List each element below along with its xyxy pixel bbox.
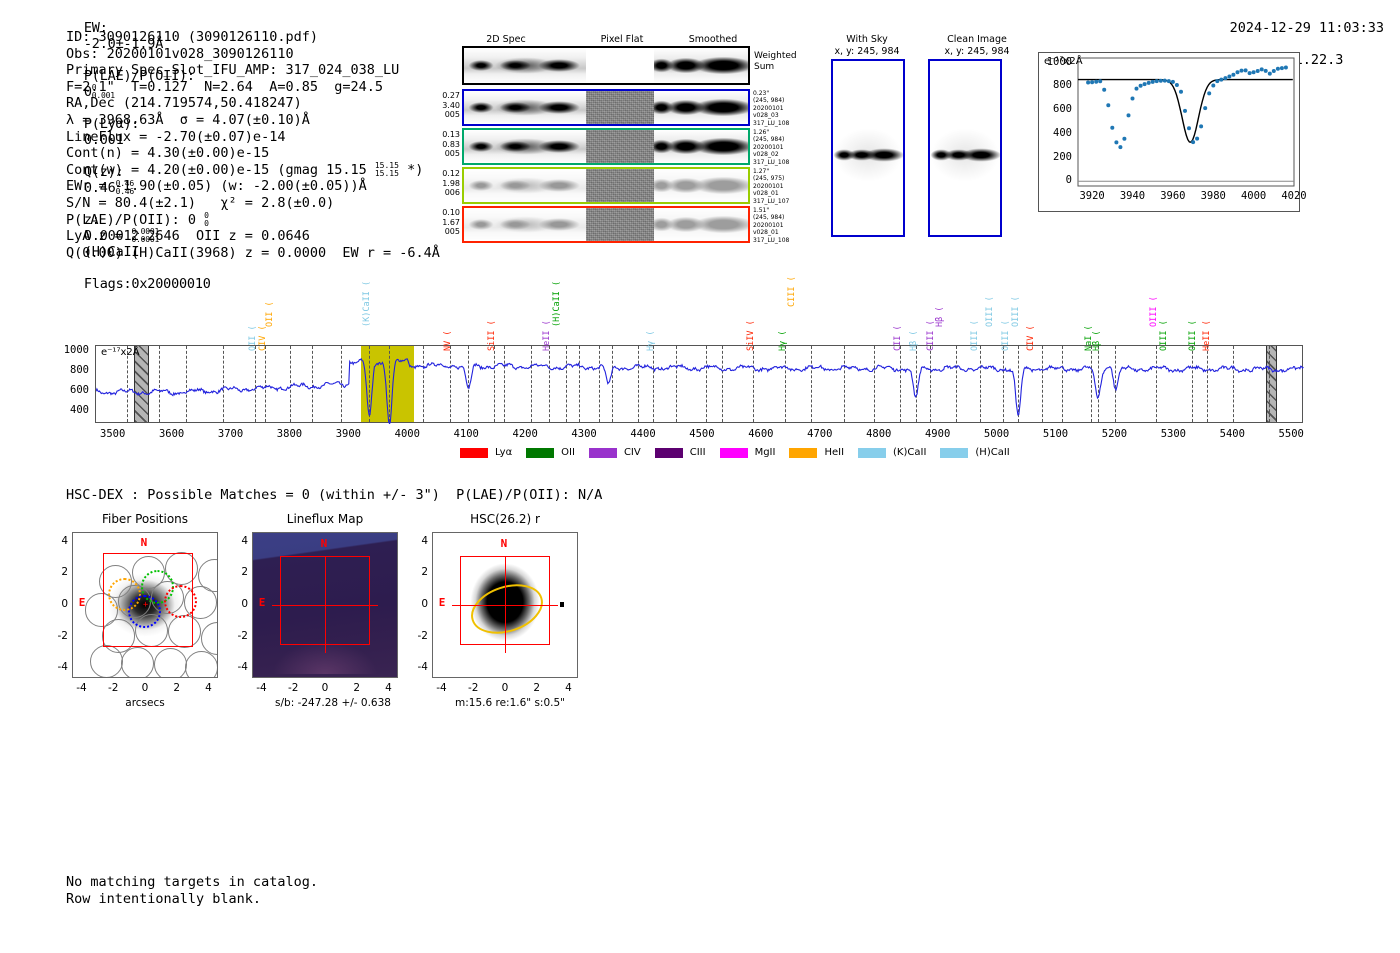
fiber-right-label: 20200101 <box>753 183 813 190</box>
north-marker-1: N <box>321 537 328 550</box>
x-tick-label: 5100 <box>1034 428 1078 440</box>
fiber-right-label: (245, 975) <box>753 175 813 182</box>
info-line-seeing: F=2.1" T=0.127 N=2.64 A=0.85 g=24.5 <box>66 79 440 96</box>
x-tick-label: 4000 <box>1236 190 1272 202</box>
panel-title-hsc-r: HSC(26.2) r <box>425 512 585 526</box>
emission-line-label: OIII ( <box>1188 320 1198 351</box>
info-line-primary: Primary Spec_Slot_IFU_AMP: 317_024_038_L… <box>66 62 440 79</box>
fiber-right-label: 20200101 <box>753 105 813 112</box>
x-tick-label: 4020 <box>1276 190 1312 202</box>
caption-hsc-r: m:15.6 re:1.6" s:0.5" <box>420 697 600 709</box>
emission-line-label: HeII ( <box>1202 320 1212 351</box>
cutout-with-sky-image <box>831 59 905 237</box>
fiber-right-label: (245, 984) <box>753 214 813 221</box>
emission-line-label: CIV ( <box>258 325 268 351</box>
footer-line-2: Row intentionally blank. <box>66 891 318 908</box>
emission-line-label: CII ( <box>893 325 903 351</box>
east-marker-0: E <box>79 596 86 609</box>
fiber-left-label: 0.10 <box>440 208 460 218</box>
fiber-row-right-labels: 1.26"(245, 984)20200101v028_02317_LU_108 <box>753 129 813 166</box>
y-tick-label: 600 <box>1032 103 1072 115</box>
emission-line-label: OIII ( <box>1159 320 1169 351</box>
spectrum-legend: LyαOIICIVCIIIMgIIHeII(K)CaII(H)CaII <box>460 447 1024 458</box>
x-tick-label: 4700 <box>798 428 842 440</box>
panel-x-tick: 4 <box>194 682 222 694</box>
emission-line-label: OII ( <box>265 301 275 327</box>
emission-line-label: (H)CaII ( <box>552 281 562 327</box>
fiber-left-label: 1.67 <box>440 218 460 228</box>
panel-x-tick: 0 <box>131 682 159 694</box>
info-line-obs: Obs: 20200101v028_3090126110 <box>66 46 440 63</box>
fiber-right-label: 1.27" <box>753 168 813 175</box>
x-tick-label: 3920 <box>1074 190 1110 202</box>
lineflux-crosshair-v <box>325 557 326 652</box>
emission-line-label: SiIV ( <box>746 320 756 351</box>
legend-item: (H)CaII <box>940 447 1009 458</box>
fiber-row-right-labels: 1.27"(245, 975)20200101v028_01317_LU_107 <box>753 168 813 205</box>
panel-x-tick: -4 <box>248 682 276 694</box>
info-line-lineflux: LineFlux = -2.70(±0.07)e-14 <box>66 129 440 146</box>
y-tick-label: 1000 <box>1032 56 1072 68</box>
legend-label: MgII <box>755 447 776 458</box>
fiber-right-label: v028_03 <box>753 112 813 119</box>
legend-swatch <box>589 448 617 458</box>
cutout-title-clean: Clean Image x, y: 245, 984 <box>922 34 1032 58</box>
panel-x-tick: -4 <box>68 682 96 694</box>
east-marker-1: E <box>259 596 266 609</box>
panel-y-tick: -4 <box>226 661 248 673</box>
fiber-right-label: 317_LU_108 <box>753 237 813 244</box>
fiber-right-label: 317_LU_108 <box>753 159 813 166</box>
line-fit-plot-area <box>1038 52 1300 212</box>
col-header-smoothed: Smoothed <box>668 34 758 45</box>
fiber-right-label: v028_01 <box>753 190 813 197</box>
fiber-row-left-labels: 0.121.98006 <box>440 169 460 198</box>
footer-note: No matching targets in catalog. Row inte… <box>66 874 318 908</box>
gmag-range: 15.1515.15 <box>375 162 399 178</box>
hscdex-summary: HSC-DEX : Possible Matches = 0 (within +… <box>66 487 602 503</box>
emission-line-label: (K)CaII ( <box>362 281 372 327</box>
cutout-0-subtitle: x, y: 245, 984 <box>812 46 922 58</box>
x-tick-label: 5000 <box>975 428 1019 440</box>
info-line-cont-n: Cont(n) = 4.30(±0.00)e-15 <box>66 145 440 162</box>
fiber-left-label: 0.83 <box>440 140 460 150</box>
info-line-cont-w: Cont(w) = 4.20(±0.00)e-15 (gmag 15.15 15… <box>66 162 440 179</box>
panel-x-tick: 4 <box>554 682 582 694</box>
fiber-circle <box>217 595 218 628</box>
panel-x-tick: -2 <box>99 682 127 694</box>
fiber-left-label: 0.27 <box>440 91 460 101</box>
fiber-right-label: 1.26" <box>753 129 813 136</box>
y-tick-label: 0 <box>1032 174 1072 186</box>
fiber-circle <box>154 648 187 678</box>
fiber-left-label: 005 <box>440 227 460 237</box>
y-tick-label: 800 <box>1032 79 1072 91</box>
hsc-point-source <box>560 602 564 607</box>
fiber-left-label: 005 <box>440 110 460 120</box>
y-tick-label: 800 <box>51 364 89 376</box>
emission-line-label: CIII ( <box>787 276 797 307</box>
x-tick-label: 4200 <box>503 428 547 440</box>
legend-item: HeII <box>789 447 844 458</box>
full-spectrum-units-annotation: e⁻¹⁷x2Å <box>101 347 140 358</box>
fiber-row-right-labels: 1.51"(245, 984)20200101v028_01317_LU_108 <box>753 207 813 244</box>
panel-y-tick: 0 <box>46 598 68 610</box>
flags-value: Flags:0x20000010 <box>84 276 211 292</box>
fiber-right-label: 317_LU_107 <box>753 198 813 205</box>
cutout-1-title: Clean Image <box>922 34 1032 46</box>
legend-item: CIV <box>589 447 641 458</box>
footer-line-1: No matching targets in catalog. <box>66 874 318 891</box>
fiber-right-label: 1.51" <box>753 207 813 214</box>
caption-lineflux-map: s/b: -247.28 +/- 0.638 <box>243 697 423 709</box>
fiber-right-label: (245, 984) <box>753 136 813 143</box>
panel-x-tick: 2 <box>163 682 191 694</box>
fiber-circle <box>121 647 154 678</box>
legend-swatch <box>789 448 817 458</box>
legend-item: Lyα <box>460 447 512 458</box>
source-info-block: ID: 3090126110 (3090126110.pdf) Obs: 202… <box>66 29 440 261</box>
x-tick-label: 4600 <box>739 428 783 440</box>
x-tick-label: 3600 <box>150 428 194 440</box>
fiber-row-right-labels: 0.23"(245, 984)20200101v028_03317_LU_108 <box>753 90 813 127</box>
legend-swatch <box>940 448 968 458</box>
x-tick-label: 4300 <box>562 428 606 440</box>
fiber-spec-row <box>462 89 750 126</box>
info-line-redshifts: LyA z = 2.2646 OII z = 0.0646 <box>66 228 440 245</box>
panel-x-tick: 0 <box>311 682 339 694</box>
fiber-right-label: 317_LU_108 <box>753 120 813 127</box>
legend-label: CIII <box>690 447 706 458</box>
fiber-positions-panel: N E + <box>72 532 218 678</box>
plae-range-2: 00 <box>204 212 209 228</box>
x-tick-label: 3500 <box>91 428 135 440</box>
emission-line-label: SiII ( <box>487 320 497 351</box>
x-tick-label: 3980 <box>1195 190 1231 202</box>
fiber-left-label: 006 <box>440 188 460 198</box>
x-tick-label: 5200 <box>1092 428 1136 440</box>
panel-x-tick: -2 <box>279 682 307 694</box>
y-tick-label: 400 <box>51 404 89 416</box>
fiber-spec-row <box>462 128 750 165</box>
legend-label: HeII <box>824 447 844 458</box>
panel-y-tick: -2 <box>406 630 428 642</box>
panel-y-tick: 2 <box>406 566 428 578</box>
panel-title-lineflux-map: Lineflux Map <box>245 512 405 526</box>
panel-x-tick: -4 <box>428 682 456 694</box>
panel-x-tick: -2 <box>459 682 487 694</box>
panel-y-tick: 2 <box>226 566 248 578</box>
x-tick-label: 4800 <box>857 428 901 440</box>
weighted-sum-label: WeightedSum <box>754 51 797 73</box>
x-tick-label: 3800 <box>267 428 311 440</box>
emission-line-label: OIII ( <box>1011 296 1021 327</box>
emission-line-label: Hβ ( <box>909 331 919 351</box>
hsc-crosshair-v <box>505 557 506 652</box>
x-tick-label: 5400 <box>1210 428 1254 440</box>
legend-label: (K)CaII <box>893 447 926 458</box>
fiber-spec-row <box>462 167 750 204</box>
emission-line-label: CIV ( <box>1026 325 1036 351</box>
y-tick-label: 1000 <box>51 344 89 356</box>
emission-line-label: Hβ ( <box>935 307 945 327</box>
x-tick-label: 3900 <box>326 428 370 440</box>
full-spectrum-plot-area <box>95 345 1303 423</box>
fiber-row-left-labels: 0.273.40005 <box>440 91 460 120</box>
info-line-q: Q(0.00) (H)CaII(3968) z = 0.0000 EW r = … <box>66 245 440 262</box>
fiber-spec-row <box>462 206 750 243</box>
north-marker-2: N <box>501 537 508 550</box>
panel-y-tick: 4 <box>406 535 428 547</box>
info-line-lambda: λ = 3968.63Å σ = 4.07(±0.10)Å <box>66 112 440 129</box>
legend-swatch <box>858 448 886 458</box>
weighted-sum-panel <box>462 46 750 85</box>
fiber-circle <box>185 651 218 678</box>
x-tick-label: 4000 <box>385 428 429 440</box>
col-header-pixelflat: Pixel Flat <box>582 34 662 45</box>
cutout-0-title: With Sky <box>812 34 922 46</box>
full-spectrum-trace <box>96 346 1304 424</box>
panel-y-tick: 2 <box>46 566 68 578</box>
fiber-left-label: 3.40 <box>440 101 460 111</box>
panel-y-tick: 0 <box>226 598 248 610</box>
x-tick-label: 4100 <box>444 428 488 440</box>
fiber-left-label: 1.98 <box>440 179 460 189</box>
panel-y-tick: 4 <box>46 535 68 547</box>
panel-title-fiber-positions: Fiber Positions <box>65 512 225 526</box>
hsc-r-panel: N E <box>432 532 578 678</box>
lineflux-map-panel: N E <box>252 532 398 678</box>
cutout-clean-image <box>928 59 1002 237</box>
fiber-left-label: 0.12 <box>440 169 460 179</box>
emission-line-label: HeII ( <box>542 320 552 351</box>
emission-line-label: OIII ( <box>1001 320 1011 351</box>
fiber-left-label: 0.13 <box>440 130 460 140</box>
legend-swatch <box>655 448 683 458</box>
cutout-title-with-sky: With Sky x, y: 245, 984 <box>812 34 922 58</box>
emission-line-label: Hγ ( <box>646 331 656 351</box>
legend-item: CIII <box>655 447 706 458</box>
legend-item: OII <box>526 447 575 458</box>
legend-item: (K)CaII <box>858 447 926 458</box>
info-line-plae: P(LAE)/P(OII): 0 00 <box>66 212 440 229</box>
info-line-id: ID: 3090126110 (3090126110.pdf) <box>66 29 440 46</box>
legend-swatch <box>460 448 488 458</box>
north-marker-0: N <box>141 536 148 549</box>
panel-x-tick: 2 <box>523 682 551 694</box>
fiber-row-left-labels: 0.101.67005 <box>440 208 460 237</box>
legend-label: OII <box>561 447 575 458</box>
y-tick-label: 400 <box>1032 127 1072 139</box>
caption-fiber-positions: arcsecs <box>65 697 225 709</box>
emission-line-label: Hβ ( <box>1092 331 1102 351</box>
fiber-right-label: (245, 984) <box>753 97 813 104</box>
x-tick-label: 3700 <box>209 428 253 440</box>
emission-line-label: OIII ( <box>985 296 995 327</box>
legend-label: (H)CaII <box>975 447 1009 458</box>
panel-y-tick: 0 <box>406 598 428 610</box>
info-line-sn: S/N = 80.4(±2.1) χ² = 2.8(±0.0) <box>66 195 440 212</box>
x-tick-label: 5300 <box>1151 428 1195 440</box>
x-tick-label: 3940 <box>1115 190 1151 202</box>
panel-x-tick: 2 <box>343 682 371 694</box>
panel-x-tick: 4 <box>374 682 402 694</box>
emission-line-label: NV ( <box>443 331 453 351</box>
center-plus-0: + <box>143 603 148 608</box>
panel-y-tick: -4 <box>406 661 428 673</box>
emission-line-label: OIII ( <box>970 320 980 351</box>
fiber-right-label: v028_01 <box>753 229 813 236</box>
east-marker-2: E <box>439 596 446 609</box>
legend-item: MgII <box>720 447 776 458</box>
info-line-radec: RA,Dec (214.719574,50.418247) <box>66 95 440 112</box>
emission-line-label: Hγ ( <box>778 331 788 351</box>
cutout-1-subtitle: x, y: 245, 984 <box>922 46 1032 58</box>
y-tick-label: 200 <box>1032 151 1072 163</box>
fiber-left-label: 005 <box>440 149 460 159</box>
fiber-right-label: 20200101 <box>753 222 813 229</box>
panel-y-tick: -4 <box>46 661 68 673</box>
fiber-right-label: 0.23" <box>753 90 813 97</box>
fiber-row-left-labels: 0.130.83005 <box>440 130 460 159</box>
emission-line-label: OIII ( <box>1149 296 1159 327</box>
emission-line-label: OII ( <box>248 325 258 351</box>
timestamp: 2024-12-29 11:03:33 <box>1230 20 1384 36</box>
col-header-2dspec: 2D Spec <box>466 34 546 45</box>
fiber-right-label: v028_02 <box>753 151 813 158</box>
legend-label: CIV <box>624 447 641 458</box>
line-fit-chart: e⁻¹⁷x2Å 02004006008001000 39203940396039… <box>1038 52 1300 212</box>
legend-swatch <box>720 448 748 458</box>
x-tick-label: 5500 <box>1269 428 1313 440</box>
panel-y-tick: -2 <box>46 630 68 642</box>
legend-swatch <box>526 448 554 458</box>
x-tick-label: 4500 <box>680 428 724 440</box>
panel-y-tick: -2 <box>226 630 248 642</box>
legend-label: Lyα <box>495 447 512 458</box>
x-tick-label: 4400 <box>621 428 665 440</box>
x-tick-label: 3960 <box>1155 190 1191 202</box>
x-tick-label: 4900 <box>916 428 960 440</box>
panel-y-tick: 4 <box>226 535 248 547</box>
y-tick-label: 600 <box>51 384 89 396</box>
fiber-right-label: 20200101 <box>753 144 813 151</box>
info-line-ewr: EWr = -1.90(±0.05) (w: -2.00(±0.05))Å <box>66 178 440 195</box>
panel-x-tick: 0 <box>491 682 519 694</box>
